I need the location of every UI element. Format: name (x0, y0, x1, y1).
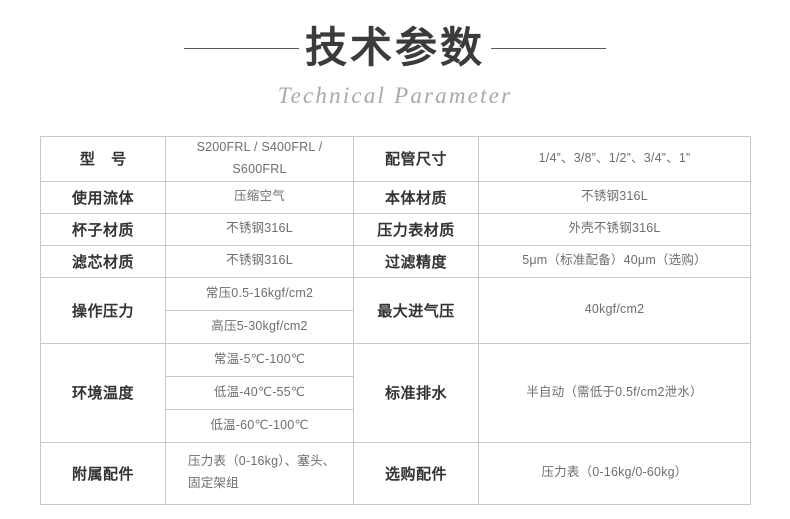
page-header: 技术参数 Technical Parameter (0, 0, 790, 109)
row-value-temperature-normal: 常温-5℃-100℃ (166, 343, 354, 376)
row-value-body-material: 不锈钢316L (479, 181, 751, 213)
table-row: 操作压力 常压0.5-16kgf/cm2 最大进气压 40kgf/cm2 (41, 277, 751, 310)
page-subtitle: Technical Parameter (0, 83, 790, 109)
row-value-max-inlet-pressure: 40kgf/cm2 (479, 277, 751, 343)
row-value-gauge-material: 外壳不锈钢316L (479, 213, 751, 245)
row-value-element-material: 不锈钢316L (166, 245, 354, 277)
row-value-operating-pressure-high: 高压5-30kgf/cm2 (166, 310, 354, 343)
row-value-operating-pressure-normal: 常压0.5-16kgf/cm2 (166, 277, 354, 310)
row-label-element-material: 滤芯材质 (41, 245, 166, 277)
page-title: 技术参数 (305, 22, 485, 74)
table-row: 附属配件 压力表（0-16kg）、塞头、固定架组 选购配件 压力表（0-16kg… (41, 442, 751, 504)
row-value-included-accessories: 压力表（0-16kg）、塞头、固定架组 (166, 442, 354, 504)
row-label-filtration: 过滤精度 (354, 245, 479, 277)
row-label-optional-accessories: 选购配件 (354, 442, 479, 504)
row-label-gauge-material: 压力表材质 (354, 213, 479, 245)
row-value-bowl-material: 不锈钢316L (166, 213, 354, 245)
table-row: 型 号 S200FRL / S400FRL / S600FRL 配管尺寸 1/4… (41, 137, 751, 182)
row-value-temperature-low-60: 低温-60℃-100℃ (166, 409, 354, 442)
row-value-pipe-size: 1/4”、3/8”、1/2”、3/4”、1” (479, 137, 751, 182)
row-label-body-material: 本体材质 (354, 181, 479, 213)
row-value-fluid: 压缩空气 (166, 181, 354, 213)
row-value-optional-accessories: 压力表（0-16kg/0-60kg） (479, 442, 751, 504)
title-rule-left-decoration (184, 48, 299, 49)
spec-table-container: 型 号 S200FRL / S400FRL / S600FRL 配管尺寸 1/4… (40, 136, 750, 505)
row-value-standard-drainage: 半自动（需低于0.5f/cm2泄水） (479, 343, 751, 442)
row-label-model: 型 号 (41, 137, 166, 182)
row-label-max-inlet-pressure: 最大进气压 (354, 277, 479, 343)
row-label-operating-pressure: 操作压力 (41, 277, 166, 343)
spec-table: 型 号 S200FRL / S400FRL / S600FRL 配管尺寸 1/4… (40, 136, 751, 505)
row-label-standard-drainage: 标准排水 (354, 343, 479, 442)
row-label-bowl-material: 杯子材质 (41, 213, 166, 245)
table-row: 滤芯材质 不锈钢316L 过滤精度 5μm（标准配备）40μm（选购） (41, 245, 751, 277)
table-row: 环境温度 常温-5℃-100℃ 标准排水 半自动（需低于0.5f/cm2泄水） (41, 343, 751, 376)
accessories-line-1: 压力表（0-16kg）、塞头、 (188, 454, 335, 468)
table-row: 杯子材质 不锈钢316L 压力表材质 外壳不锈钢316L (41, 213, 751, 245)
row-value-filtration: 5μm（标准配备）40μm（选购） (479, 245, 751, 277)
title-rule-right-decoration (491, 48, 606, 49)
row-label-fluid: 使用流体 (41, 181, 166, 213)
row-label-included-accessories: 附属配件 (41, 442, 166, 504)
table-row: 使用流体 压缩空气 本体材质 不锈钢316L (41, 181, 751, 213)
spec-sheet-page: 技术参数 Technical Parameter 型 号 S200FRL / S… (0, 0, 790, 519)
title-row: 技术参数 (0, 22, 790, 74)
row-value-model: S200FRL / S400FRL / S600FRL (166, 137, 354, 182)
accessories-line-2: 固定架组 (188, 476, 239, 490)
row-label-pipe-size: 配管尺寸 (354, 137, 479, 182)
row-label-ambient-temperature: 环境温度 (41, 343, 166, 442)
row-value-temperature-low-40: 低温-40℃-55℃ (166, 376, 354, 409)
